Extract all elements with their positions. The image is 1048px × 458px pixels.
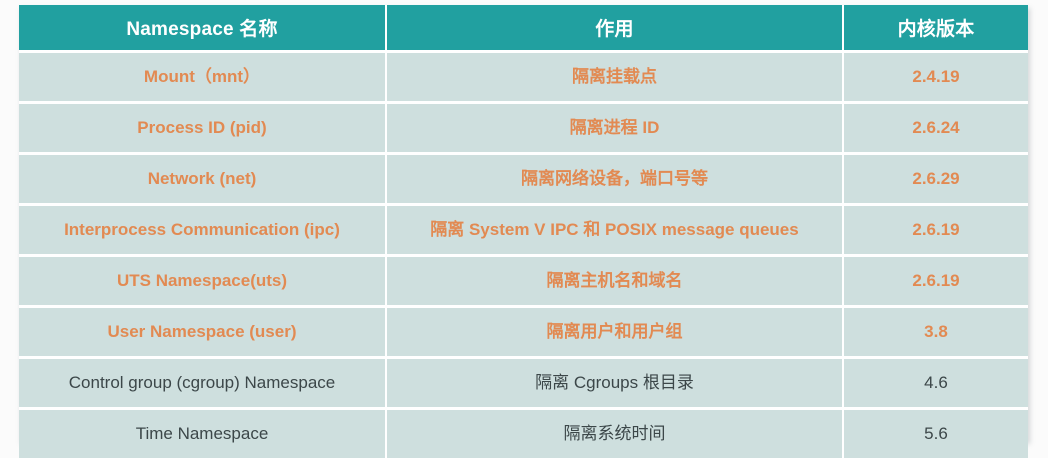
cell-role: 隔离进程 ID xyxy=(387,101,844,152)
cell-namespace-name: Time Namespace xyxy=(19,407,387,458)
table-row: Control group (cgroup) Namespace隔离 Cgrou… xyxy=(19,356,1028,407)
cell-kernel-version: 2.6.19 xyxy=(844,203,1028,254)
column-header-kernel-version: 内核版本 xyxy=(844,5,1028,50)
cell-kernel-version: 4.6 xyxy=(844,356,1028,407)
table-header: Namespace 名称 作用 内核版本 xyxy=(19,5,1028,50)
cell-kernel-version: 2.6.24 xyxy=(844,101,1028,152)
cell-kernel-version: 2.4.19 xyxy=(844,50,1028,101)
cell-namespace-name: Control group (cgroup) Namespace xyxy=(19,356,387,407)
table-row: UTS Namespace(uts)隔离主机名和域名2.6.19 xyxy=(19,254,1028,305)
table-body: Mount（mnt）隔离挂载点2.4.19Process ID (pid)隔离进… xyxy=(19,50,1028,458)
cell-namespace-name: Mount（mnt） xyxy=(19,50,387,101)
table-row: Process ID (pid)隔离进程 ID2.6.24 xyxy=(19,101,1028,152)
cell-role: 隔离用户和用户组 xyxy=(387,305,844,356)
table-row: Interprocess Communication (ipc)隔离 Syste… xyxy=(19,203,1028,254)
table-row: Time Namespace隔离系统时间5.6 xyxy=(19,407,1028,458)
namespace-table: Namespace 名称 作用 内核版本 Mount（mnt）隔离挂载点2.4.… xyxy=(19,5,1028,458)
namespace-table-container: Namespace 名称 作用 内核版本 Mount（mnt）隔离挂载点2.4.… xyxy=(19,5,1028,441)
cell-kernel-version: 2.6.29 xyxy=(844,152,1028,203)
table-row: Network (net)隔离网络设备，端口号等2.6.29 xyxy=(19,152,1028,203)
column-header-role: 作用 xyxy=(387,5,844,50)
cell-namespace-name: Network (net) xyxy=(19,152,387,203)
cell-namespace-name: Interprocess Communication (ipc) xyxy=(19,203,387,254)
cell-kernel-version: 2.6.19 xyxy=(844,254,1028,305)
cell-namespace-name: Process ID (pid) xyxy=(19,101,387,152)
cell-role: 隔离挂载点 xyxy=(387,50,844,101)
cell-role: 隔离主机名和域名 xyxy=(387,254,844,305)
table-header-row: Namespace 名称 作用 内核版本 xyxy=(19,5,1028,50)
cell-kernel-version: 5.6 xyxy=(844,407,1028,458)
cell-namespace-name: User Namespace (user) xyxy=(19,305,387,356)
cell-namespace-name: UTS Namespace(uts) xyxy=(19,254,387,305)
table-row: Mount（mnt）隔离挂载点2.4.19 xyxy=(19,50,1028,101)
cell-role: 隔离 Cgroups 根目录 xyxy=(387,356,844,407)
cell-role: 隔离 System V IPC 和 POSIX message queues xyxy=(387,203,844,254)
cell-role: 隔离系统时间 xyxy=(387,407,844,458)
cell-role: 隔离网络设备，端口号等 xyxy=(387,152,844,203)
column-header-namespace-name: Namespace 名称 xyxy=(19,5,387,50)
cell-kernel-version: 3.8 xyxy=(844,305,1028,356)
table-row: User Namespace (user)隔离用户和用户组3.8 xyxy=(19,305,1028,356)
